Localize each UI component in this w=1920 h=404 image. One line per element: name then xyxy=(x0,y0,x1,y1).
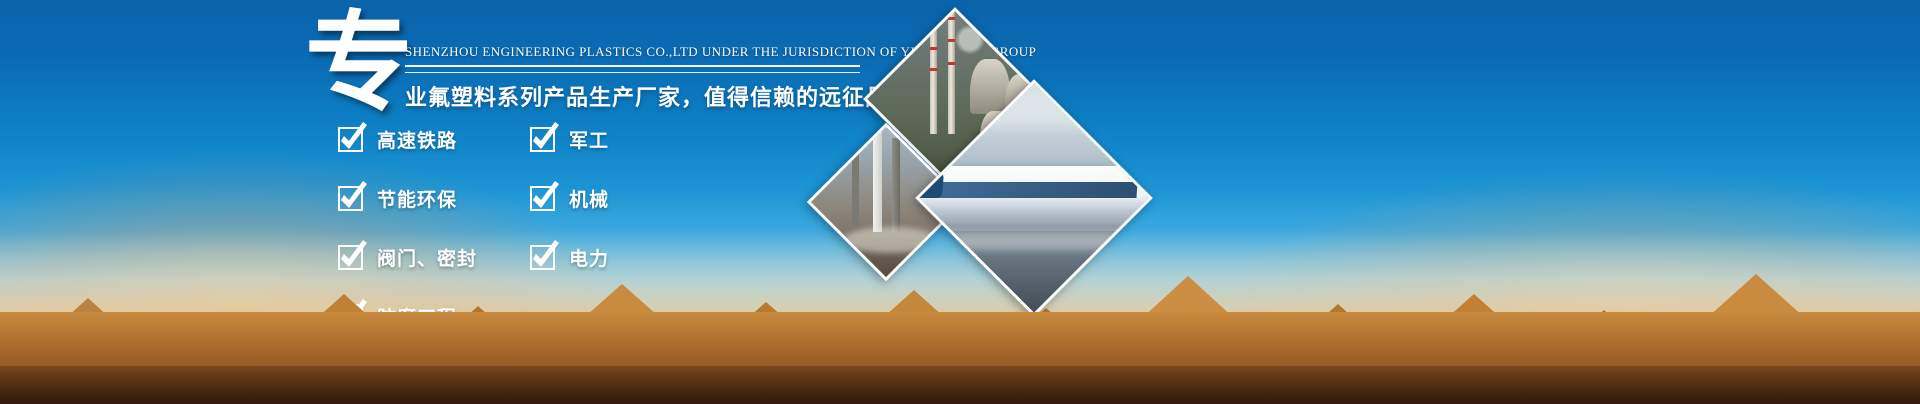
feature-item[interactable]: 高速铁路 xyxy=(338,120,477,158)
checkbox-checked-icon xyxy=(530,127,555,152)
checkbox-checked-icon xyxy=(530,186,555,211)
headline-divider xyxy=(405,65,860,73)
feature-label: 军工 xyxy=(569,126,609,153)
checkbox-checked-icon xyxy=(338,127,363,152)
feature-item[interactable]: 机械 xyxy=(530,179,609,217)
foreground-shadow xyxy=(0,366,1920,404)
feature-item[interactable]: 节能环保 xyxy=(338,179,477,217)
desert-pyramids-background xyxy=(0,229,1920,404)
feature-item[interactable]: 军工 xyxy=(530,120,609,158)
feature-label: 机械 xyxy=(569,185,609,212)
feature-label: 节能环保 xyxy=(377,185,457,212)
feature-label: 高速铁路 xyxy=(377,126,457,153)
checkbox-checked-icon xyxy=(338,186,363,211)
promo-banner: 专 SHENZHOU ENGINEERING PLASTICS CO.,LTD … xyxy=(0,0,1920,404)
